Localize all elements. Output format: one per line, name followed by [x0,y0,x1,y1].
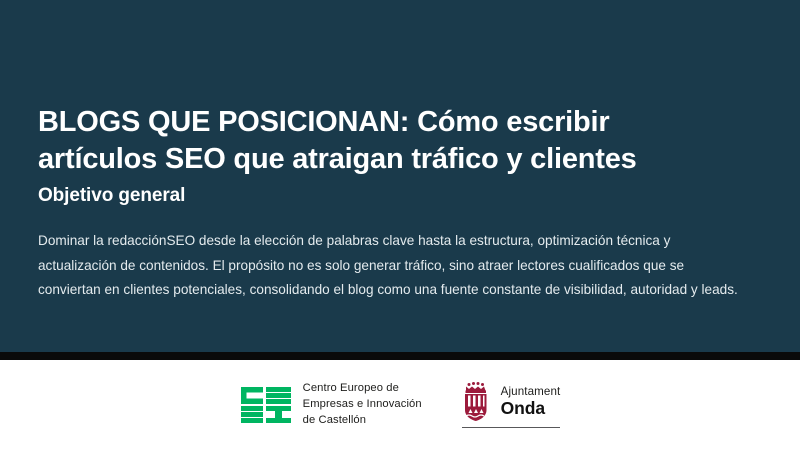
ceei-monogram-icon [240,386,292,424]
onda-logo: Ajuntament Onda [462,382,561,429]
onda-logo-wordmark: Ajuntament Onda [501,386,561,417]
onda-logo-underline [462,427,561,429]
ceei-logo-name: Centro Europeo de Empresas e Innovación … [303,381,422,429]
section-subtitle: Objetivo general [38,185,738,208]
onda-coat-of-arms-icon [462,382,492,422]
hero-content: BLOGS QUE POSICIONAN: Cómo escribir artí… [38,104,738,303]
footer-logo-bar: Centro Europeo de Empresas e Innovación … [0,360,800,450]
onda-logo-row: Ajuntament Onda [462,382,561,422]
slide: BLOGS QUE POSICIONAN: Cómo escribir artí… [0,0,800,450]
hero-panel: BLOGS QUE POSICIONAN: Cómo escribir artí… [0,0,800,352]
onda-logo-line-two: Onda [501,400,561,418]
onda-logo-line-one: Ajuntament [501,386,561,398]
divider-band [0,352,800,360]
ceei-logo: Centro Europeo de Empresas e Innovación … [240,381,422,429]
body-paragraph: Dominar la redacciónSEO desde la elecció… [38,229,738,303]
page-title: BLOGS QUE POSICIONAN: Cómo escribir artí… [38,104,698,177]
